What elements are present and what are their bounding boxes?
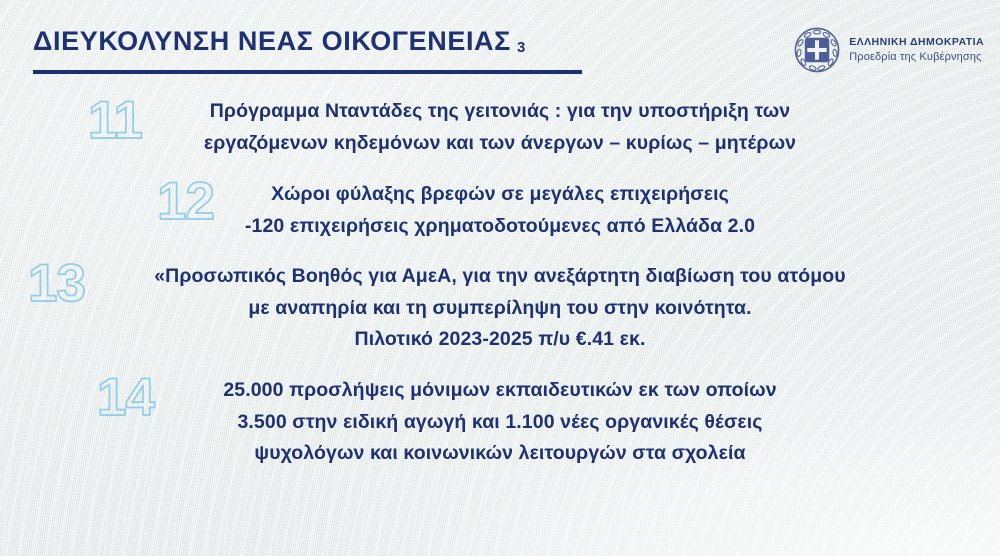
list-item: 14 25.000 προσλήψεις μόνιμων εκπαιδευτικ… bbox=[0, 375, 1000, 470]
title-block: ΔΙΕΥΚΟΛΥΝΣΗ ΝΕΑΣ ΟΙΚΟΓΕΝΕΙΑΣ 3 bbox=[33, 26, 525, 57]
item-line: «Προσωπικός Βοηθός για ΑμεΑ, για την ανε… bbox=[46, 261, 954, 293]
item-line: 25.000 προσλήψεις μόνιμων εκπαιδευτικών … bbox=[46, 375, 954, 407]
bullet-item-list: 11 Πρόγραμμα Νταντάδες της γειτονιάς : γ… bbox=[0, 88, 1000, 476]
item-text-block: Πρόγραμμα Νταντάδες της γειτονιάς : για … bbox=[0, 96, 1000, 159]
item-line: 3.500 στην ειδική αγωγή και 1.100 νέες ο… bbox=[46, 407, 954, 439]
item-text-block: Χώροι φύλαξης βρεφών σε μεγάλες επιχειρή… bbox=[0, 179, 1000, 242]
page-title: ΔΙΕΥΚΟΛΥΝΣΗ ΝΕΑΣ ΟΙΚΟΓΕΝΕΙΑΣ bbox=[33, 26, 511, 57]
list-item: 11 Πρόγραμμα Νταντάδες της γειτονιάς : γ… bbox=[0, 96, 1000, 159]
logo-title: ΕΛΛΗΝΙΚΗ ΔΗΜΟΚΡΑΤΙΑ bbox=[849, 36, 984, 49]
item-line: ψυχολόγων και κοινωνικών λειτουργών στα … bbox=[46, 438, 954, 470]
item-number: 13 bbox=[28, 257, 85, 310]
title-underline-rule bbox=[33, 70, 582, 74]
item-line: εργαζόμενων κηδεμόνων και των άνεργων – … bbox=[46, 128, 954, 160]
item-number: 11 bbox=[88, 94, 142, 147]
greek-republic-emblem-icon bbox=[794, 27, 840, 73]
logo-subtitle: Προεδρία της Κυβέρνησης bbox=[849, 50, 984, 64]
slide-header: ΔΙΕΥΚΟΛΥΝΣΗ ΝΕΑΣ ΟΙΚΟΓΕΝΕΙΑΣ 3 bbox=[0, 0, 1000, 86]
item-line: Πρόγραμμα Νταντάδες της γειτονιάς : για … bbox=[46, 96, 954, 128]
item-line: Πιλοτικό 2023-2025 π/υ €.41 εκ. bbox=[46, 324, 954, 356]
item-number: 14 bbox=[97, 371, 154, 424]
list-item: 12 Χώροι φύλαξης βρεφών σε μεγάλες επιχε… bbox=[0, 179, 1000, 242]
list-item: 13 «Προσωπικός Βοηθός για ΑμεΑ, για την … bbox=[0, 261, 1000, 356]
logo-text-block: ΕΛΛΗΝΙΚΗ ΔΗΜΟΚΡΑΤΙΑ Προεδρία της Κυβέρνη… bbox=[849, 36, 984, 64]
item-text-block: «Προσωπικός Βοηθός για ΑμεΑ, για την ανε… bbox=[0, 261, 1000, 356]
slide-canvas: ΔΙΕΥΚΟΛΥΝΣΗ ΝΕΑΣ ΟΙΚΟΓΕΝΕΙΑΣ 3 bbox=[0, 0, 1000, 556]
item-line: με αναπηρία και τη συμπερίληψη του στην … bbox=[46, 293, 954, 325]
item-number: 12 bbox=[157, 175, 214, 228]
page-title-index: 3 bbox=[517, 39, 525, 56]
government-logo: ΕΛΛΗΝΙΚΗ ΔΗΜΟΚΡΑΤΙΑ Προεδρία της Κυβέρνη… bbox=[794, 27, 984, 73]
